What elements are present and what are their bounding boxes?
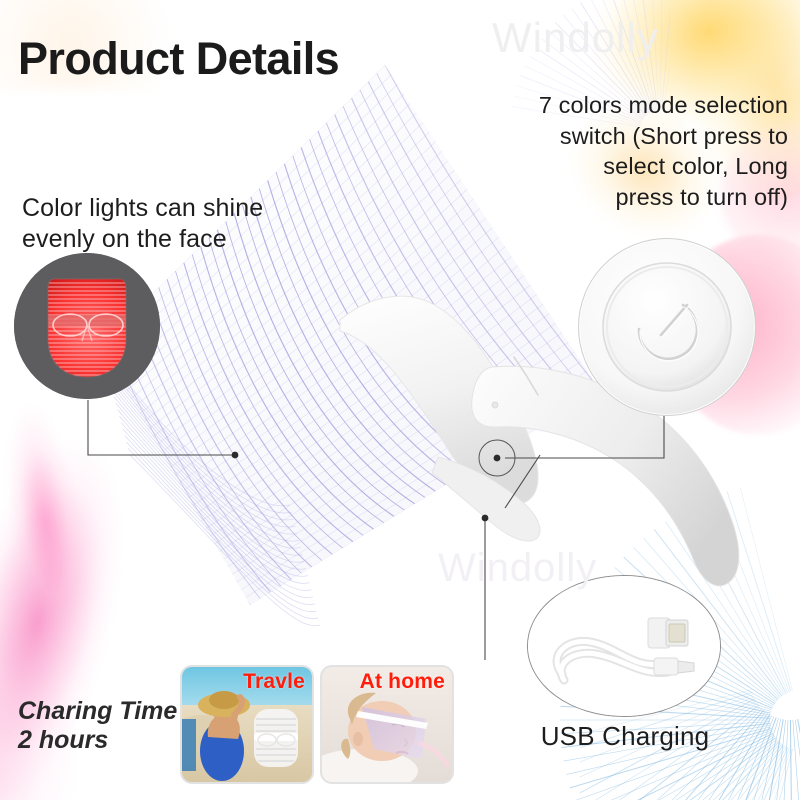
annotation-color-lights-line2: evenly on the face <box>22 224 312 255</box>
thumbnail-label-at-home: At home <box>360 670 445 694</box>
red-led-mask-inset <box>14 253 160 399</box>
label-charging-time: Charing Time 2 hours <box>18 697 228 755</box>
annotation-color-lights-line1: Color lights can shine <box>22 193 312 224</box>
callout-tick-power <box>505 455 540 508</box>
label-charging-time-line1: Charing Time <box>18 697 228 726</box>
annotation-mode-switch-line1: 7 colors mode selection <box>478 90 788 121</box>
label-charging-time-line2: 2 hours <box>18 726 228 755</box>
label-usb-charging: USB Charging <box>500 722 750 752</box>
page-title: Product Details <box>18 36 339 81</box>
thumbnail-label-travel: Travle <box>243 670 305 694</box>
infographic-canvas: Travle <box>0 0 800 800</box>
annotation-mode-switch-line4: press to turn off) <box>478 182 788 213</box>
callout-line-mask <box>88 400 235 455</box>
usb-a-connector <box>648 618 688 648</box>
annotation-mode-switch-line2: switch (Short press to <box>478 121 788 152</box>
power-button-inset <box>578 238 756 416</box>
annotation-mode-switch: 7 colors mode selection switch (Short pr… <box>478 90 788 212</box>
thumbnail-at-home[interactable]: At home <box>320 665 454 784</box>
annotation-color-lights: Color lights can shine evenly on the fac… <box>22 193 312 254</box>
annotation-mode-switch-line3: select color, Long <box>478 151 788 182</box>
usb-cable-inset <box>527 575 721 717</box>
callout-line-power <box>505 416 664 458</box>
